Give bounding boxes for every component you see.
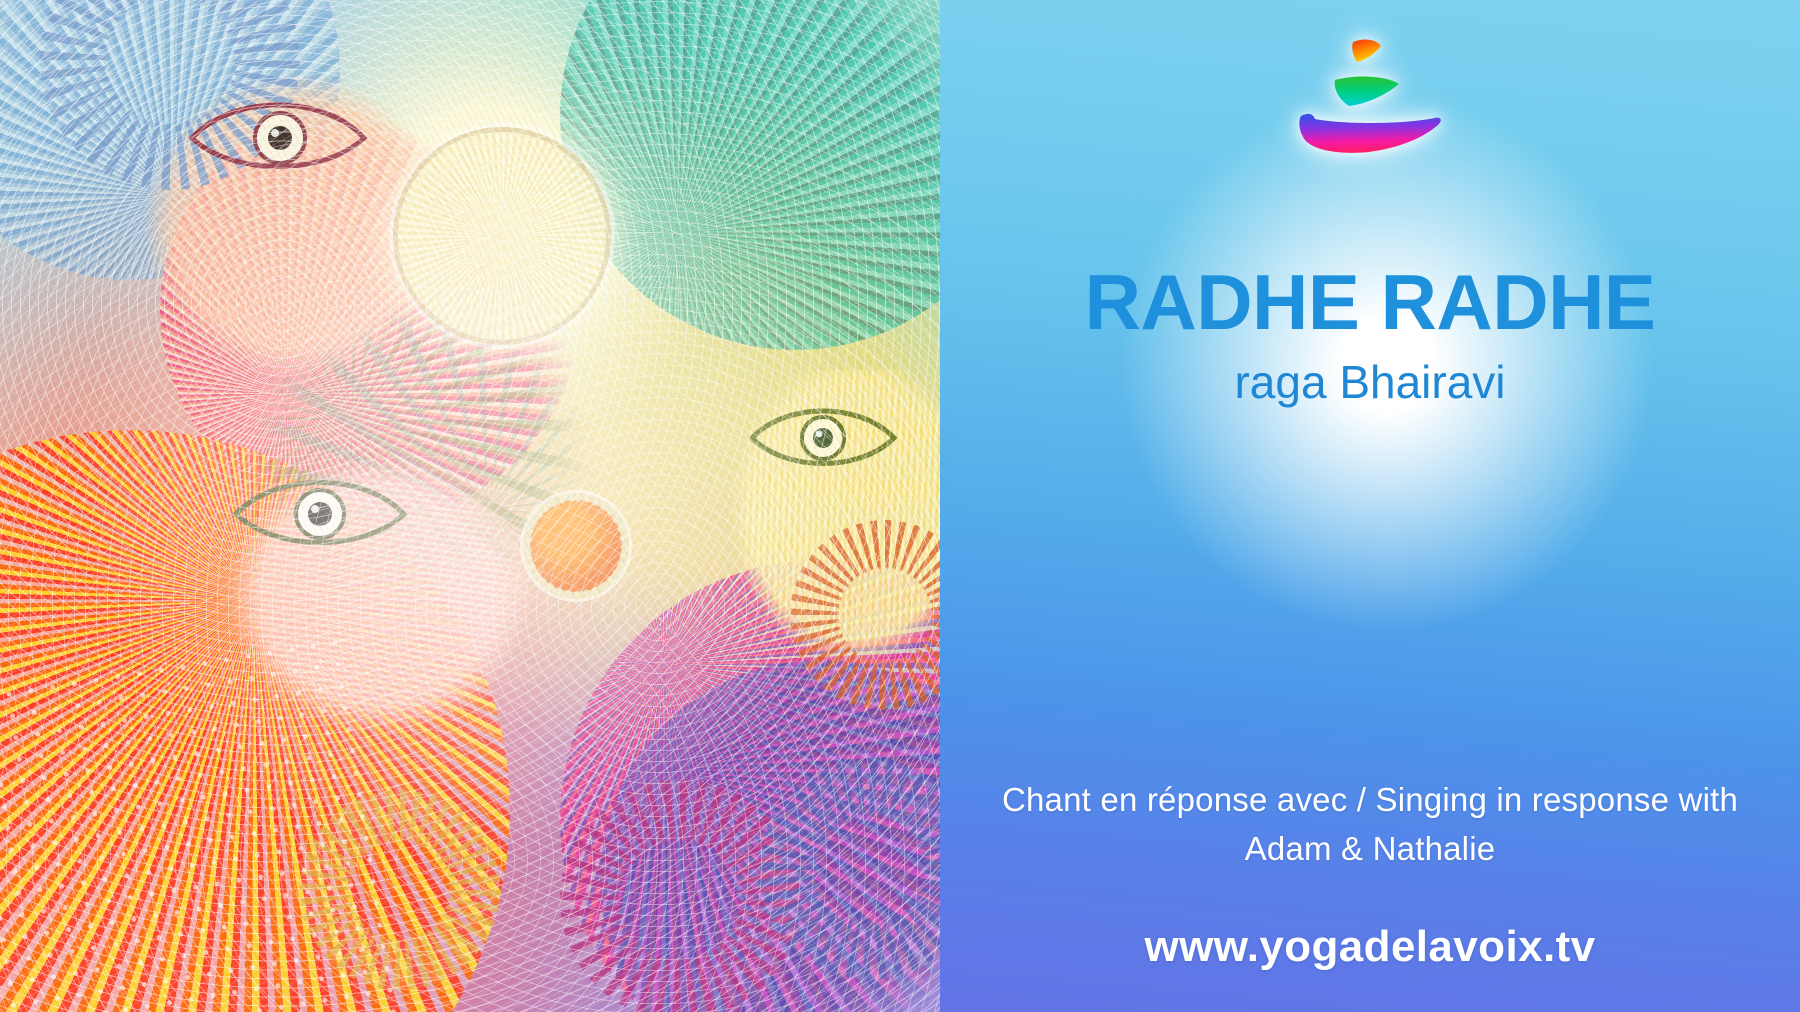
yoga-de-la-voix-logo-icon [1295,24,1445,164]
logo-container [940,24,1800,164]
title-block: RADHE RADHE raga Bhairavi [940,262,1800,408]
website-url[interactable]: www.yogadelavoix.tv [940,922,1800,972]
page-title: RADHE RADHE [940,262,1800,343]
credits-line-2: Adam & Nathalie [980,825,1760,874]
artwork-veil [0,0,940,1012]
poster: RADHE RADHE raga Bhairavi Chant en répon… [0,0,1800,1012]
content-panel: RADHE RADHE raga Bhairavi Chant en répon… [940,0,1800,1012]
credits-block: Chant en réponse avec / Singing in respo… [940,776,1800,874]
credits-line-1: Chant en réponse avec / Singing in respo… [1002,781,1738,818]
page-subtitle: raga Bhairavi [940,357,1800,408]
artwork-panel [0,0,940,1012]
